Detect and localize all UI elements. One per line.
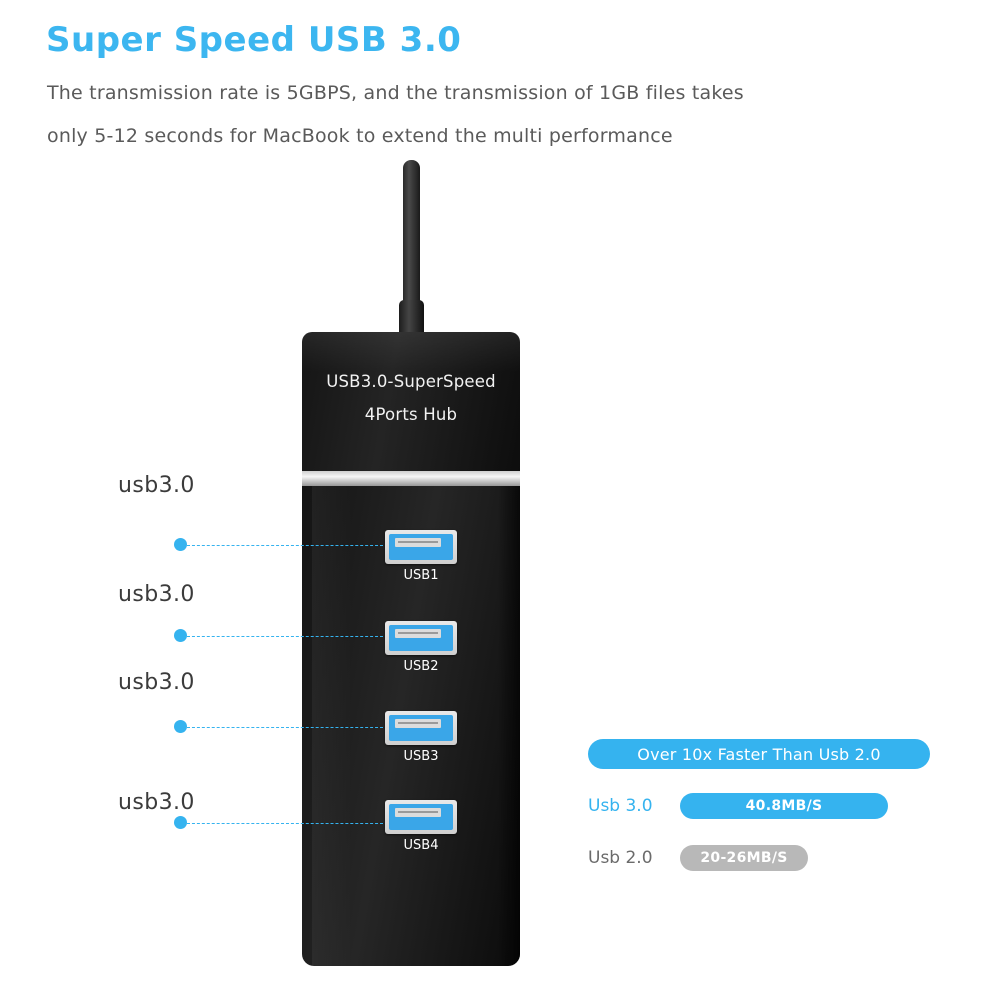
callout-label-1: usb3.0 (118, 473, 195, 498)
hub-brand-line-2: 4Ports Hub (302, 405, 520, 424)
callout-label-4: usb3.0 (118, 790, 195, 815)
callout-dot-1 (174, 538, 187, 551)
usb-port-4-caption: USB4 (385, 838, 457, 853)
callout-dot-2 (174, 629, 187, 642)
hub-body-edge-shadow (498, 486, 520, 966)
callout-label-2: usb3.0 (118, 582, 195, 607)
description-line-1: The transmission rate is 5GBPS, and the … (47, 82, 744, 104)
usb-port-1 (385, 530, 457, 564)
usb-port-2 (385, 621, 457, 655)
usb-port-3-cavity (389, 715, 453, 741)
usb-port-4 (385, 800, 457, 834)
usb-port-3-tongue (395, 719, 441, 728)
speed-row-usb30: Usb 3.0 40.8MB/S (588, 793, 888, 819)
usb-port-4-cavity (389, 804, 453, 830)
speed-row-usb20-label: Usb 2.0 (588, 848, 680, 868)
hub-top-gloss (302, 332, 520, 372)
speed-row-usb20-bar: 20-26MB/S (680, 845, 808, 871)
callout-dot-3 (174, 720, 187, 733)
description-line-2: only 5-12 seconds for MacBook to extend … (47, 125, 673, 147)
usb-port-3-caption: USB3 (385, 749, 457, 764)
speed-row-usb30-bar: 40.8MB/S (680, 793, 888, 819)
speed-banner: Over 10x Faster Than Usb 2.0 (588, 739, 930, 769)
usb-port-2-caption: USB2 (385, 659, 457, 674)
callout-leader-3 (187, 727, 383, 728)
callout-leader-1 (187, 545, 383, 546)
callout-label-3: usb3.0 (118, 670, 195, 695)
hub-brand-line-1: USB3.0-SuperSpeed (302, 372, 520, 391)
speed-row-usb20: Usb 2.0 20-26MB/S (588, 845, 808, 871)
usb-port-2-cavity (389, 625, 453, 651)
usb-port-1-tongue (395, 538, 441, 547)
hub-silver-trim (302, 471, 520, 487)
usb-port-4-tongue (395, 808, 441, 817)
usb-port-2-tongue (395, 629, 441, 638)
hub-body: USB1 USB2 USB3 USB4 (302, 486, 520, 966)
hub-body-sheen (312, 486, 352, 966)
callout-dot-4 (174, 816, 187, 829)
page-title: Super Speed USB 3.0 (46, 20, 461, 60)
callout-leader-4 (187, 823, 383, 824)
speed-row-usb30-label: Usb 3.0 (588, 796, 680, 816)
hub-top-panel: USB3.0-SuperSpeed 4Ports Hub (302, 332, 520, 474)
usb-port-3 (385, 711, 457, 745)
usb-port-1-cavity (389, 534, 453, 560)
usb-port-1-caption: USB1 (385, 568, 457, 583)
callout-leader-2 (187, 636, 383, 637)
